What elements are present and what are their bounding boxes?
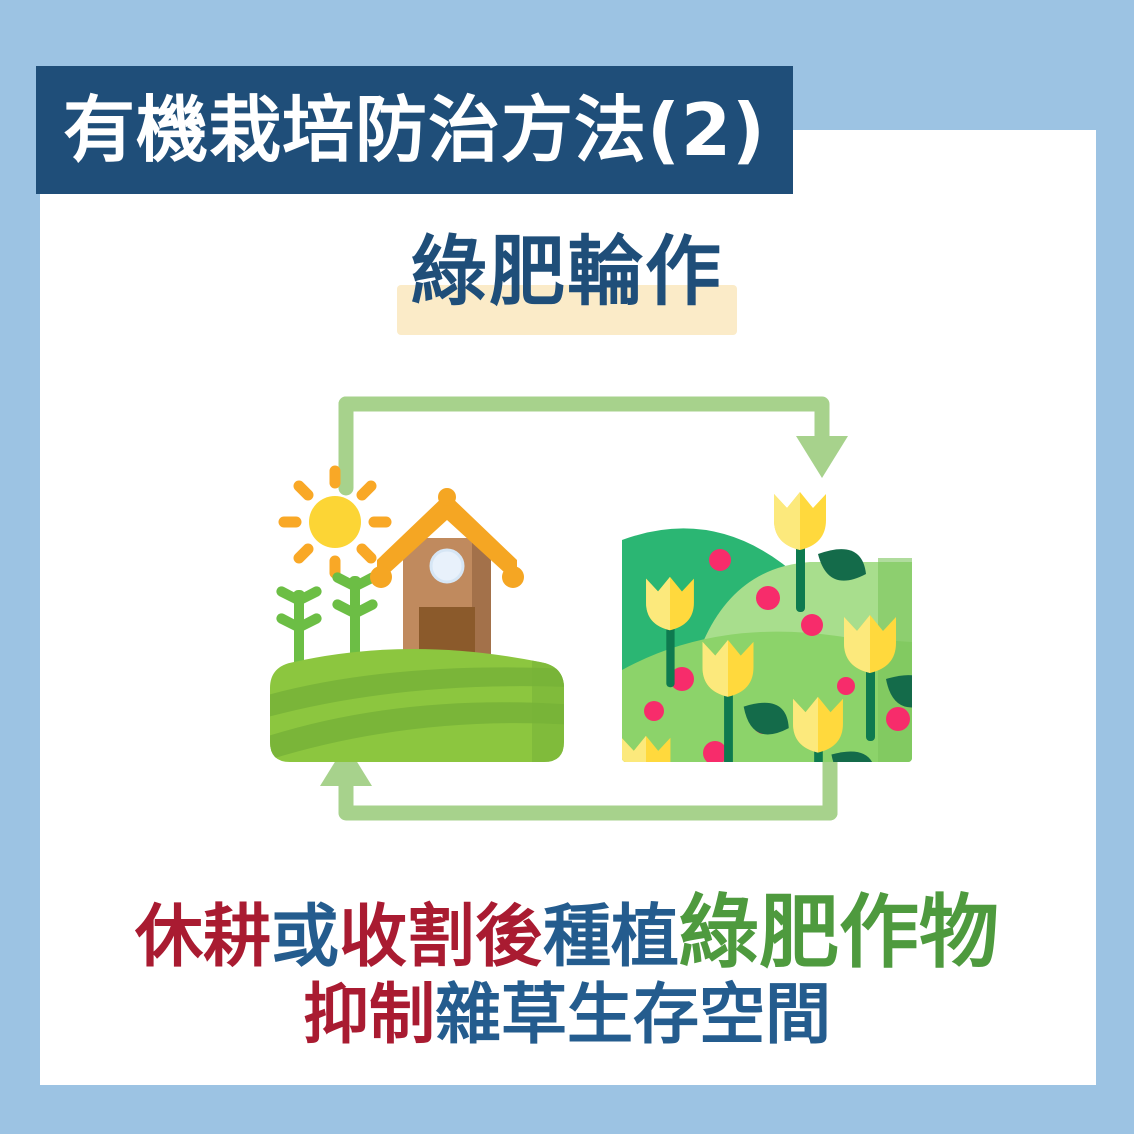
title-banner: 有機栽培防治方法(2) [36,66,793,194]
subtitle-inner: 綠肥輪作 [397,228,737,315]
caption-line-1: 休耕或收割後種植綠肥作物 [0,888,1134,978]
caption-seg-1-1: 休耕 [135,898,271,977]
caption-seg-2-2: 雜草生存空間 [435,976,831,1053]
sun-icon [284,471,386,573]
caption-block: 休耕或收割後種植綠肥作物 抑制雜草生存空間 [0,888,1134,1052]
caption-seg-1-3: 收割後 [339,898,543,977]
caption-seg-2-1: 抑制 [303,976,435,1053]
poster-root: 有機栽培防治方法(2) 綠肥輪作 [0,0,1134,1134]
caption-seg-1-5: 綠肥作物 [679,886,999,979]
arrow-top-icon [346,404,848,488]
caption-seg-1-2: 或 [271,898,339,977]
flower-field-illustration [622,492,930,826]
page-title: 有機栽培防治方法(2) [63,94,766,166]
caption-line-2: 抑制雜草生存空間 [0,978,1134,1052]
farm-scene-illustration [250,471,590,780]
subtitle-container: 綠肥輪作 [0,228,1134,315]
caption-seg-1-4: 種植 [543,898,679,977]
subtitle-text: 綠肥輪作 [411,227,723,316]
barn-icon [370,488,524,670]
illustration-stage [250,370,930,860]
